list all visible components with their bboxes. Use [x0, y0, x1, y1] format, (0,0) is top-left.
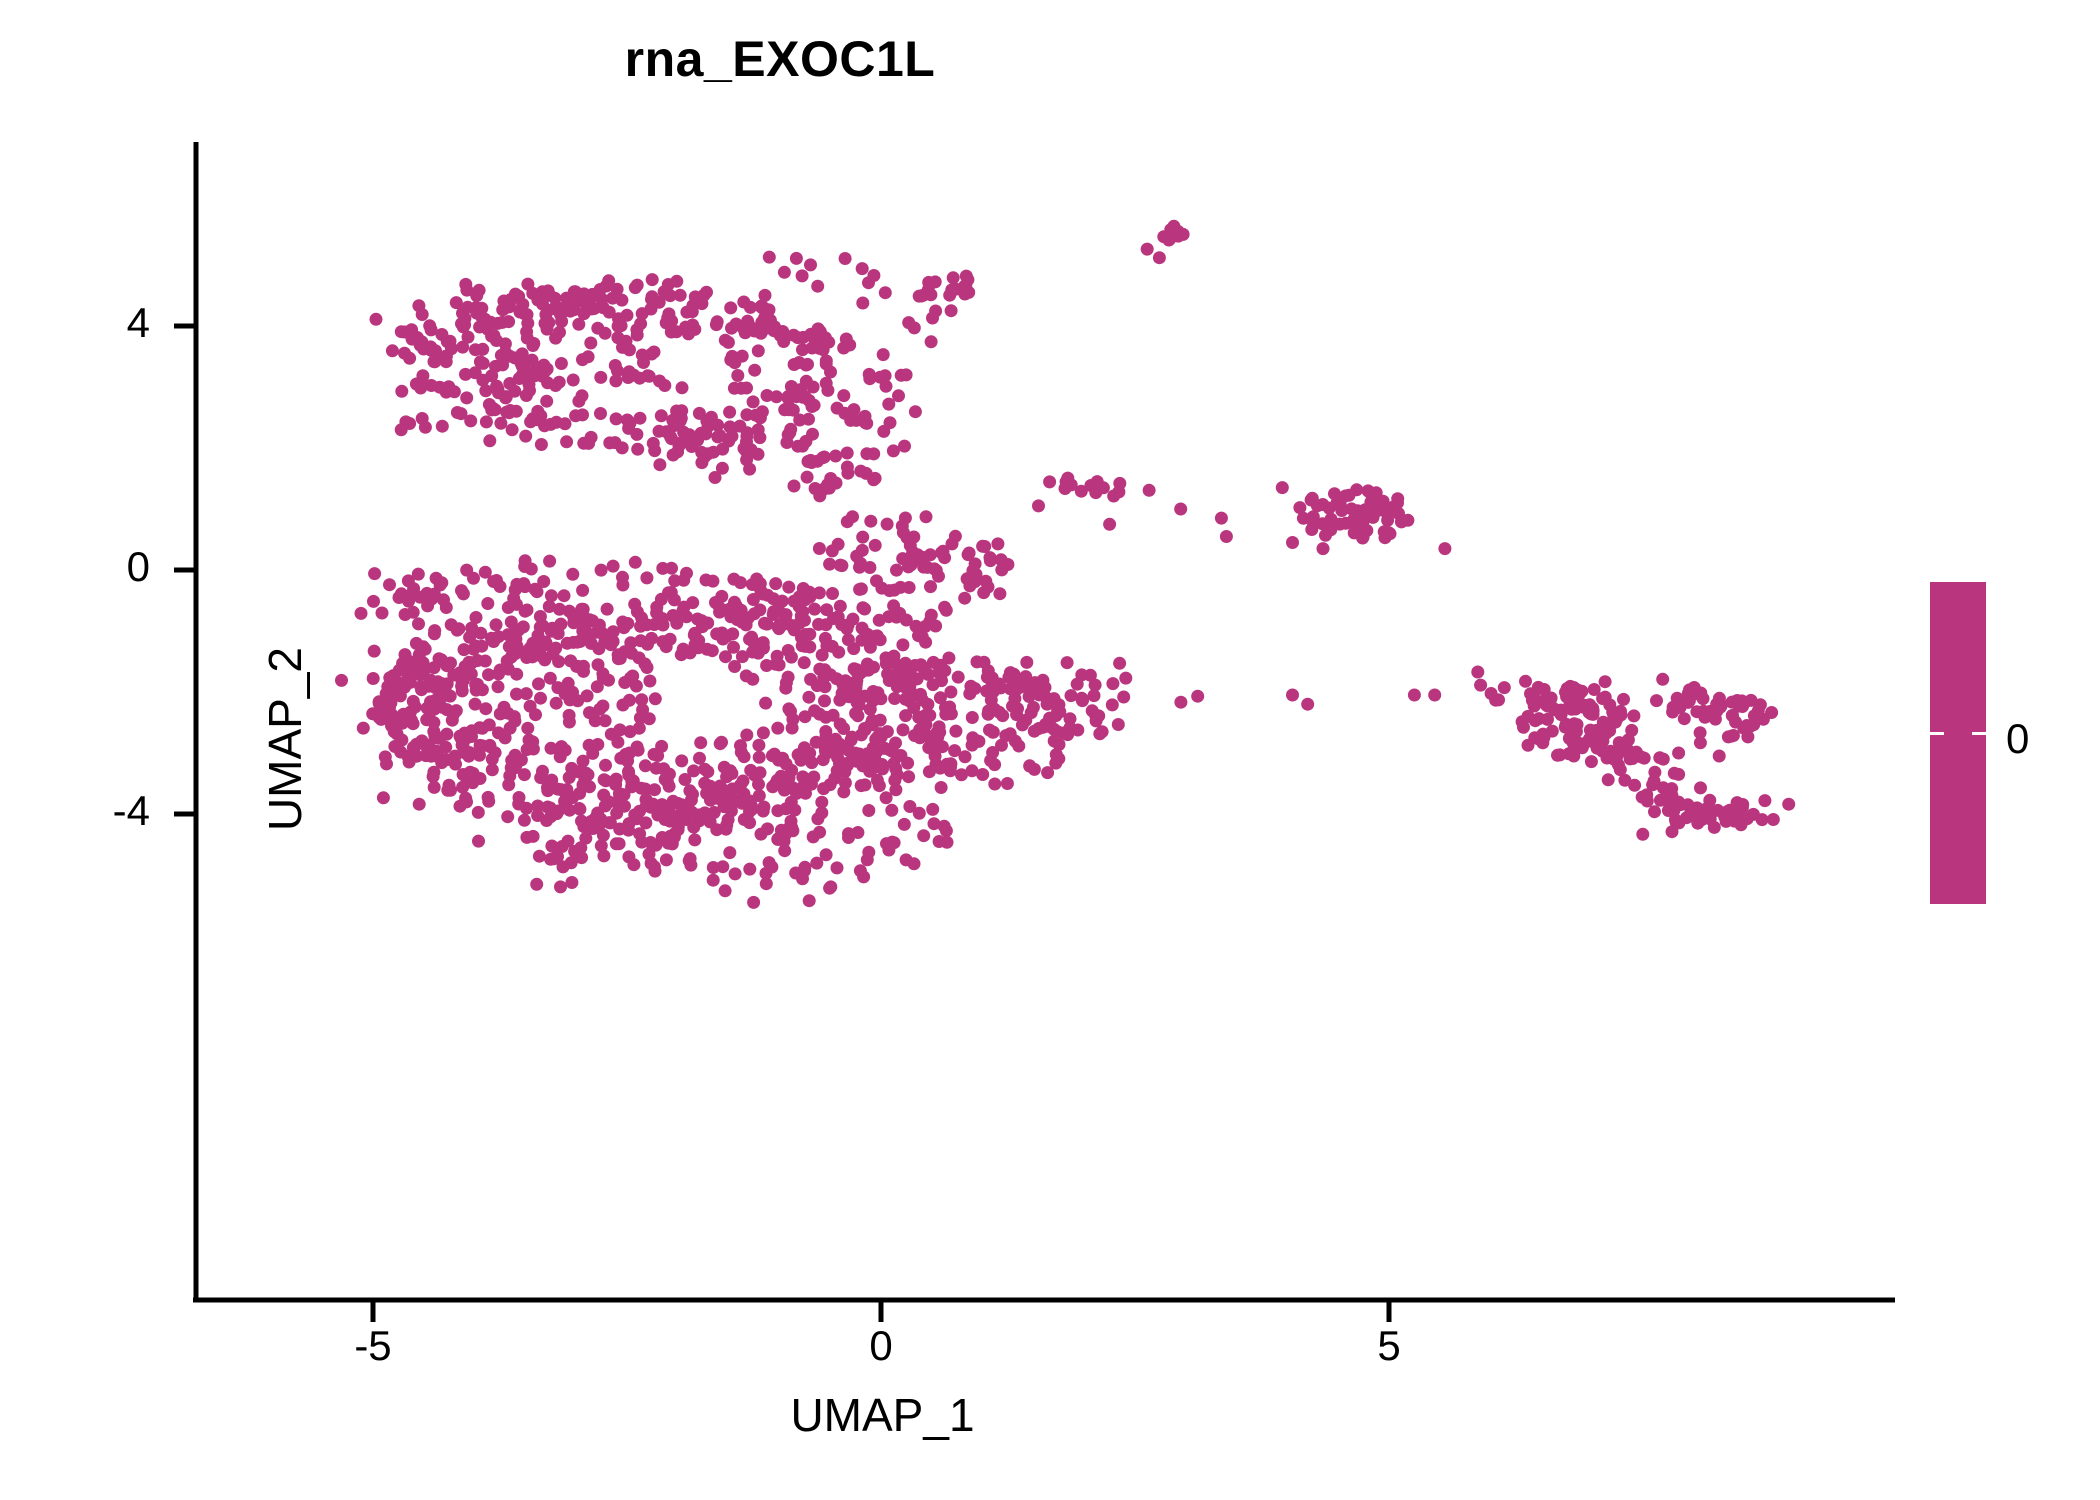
x-tick-label: 0 — [821, 1322, 941, 1370]
y-axis-title: UMAP_2 — [258, 159, 312, 1319]
y-tick-marks — [174, 326, 196, 814]
x-tick-label: 5 — [1329, 1322, 1449, 1370]
x-tick-label: -5 — [313, 1322, 433, 1370]
y-tick-label: 4 — [30, 299, 150, 347]
colorbar-tick-right — [1972, 732, 1986, 735]
colorbar-gradient — [1930, 582, 1986, 904]
x-tick-marks — [373, 1300, 1389, 1322]
umap-feature-plot: rna_EXOC1L -505 -404 UMAP_1 UMAP_2 0 — [0, 0, 2100, 1500]
scatter-canvas — [0, 0, 2100, 1500]
x-axis-title: UMAP_1 — [195, 1388, 1570, 1442]
data-points — [335, 220, 1795, 909]
y-tick-label: 0 — [30, 543, 150, 591]
y-tick-label: -4 — [30, 787, 150, 835]
colorbar-tick-left — [1930, 732, 1944, 735]
colorbar-tick-label: 0 — [2006, 715, 2029, 763]
plot-panel: -505 -404 UMAP_1 UMAP_2 — [0, 0, 2100, 1500]
